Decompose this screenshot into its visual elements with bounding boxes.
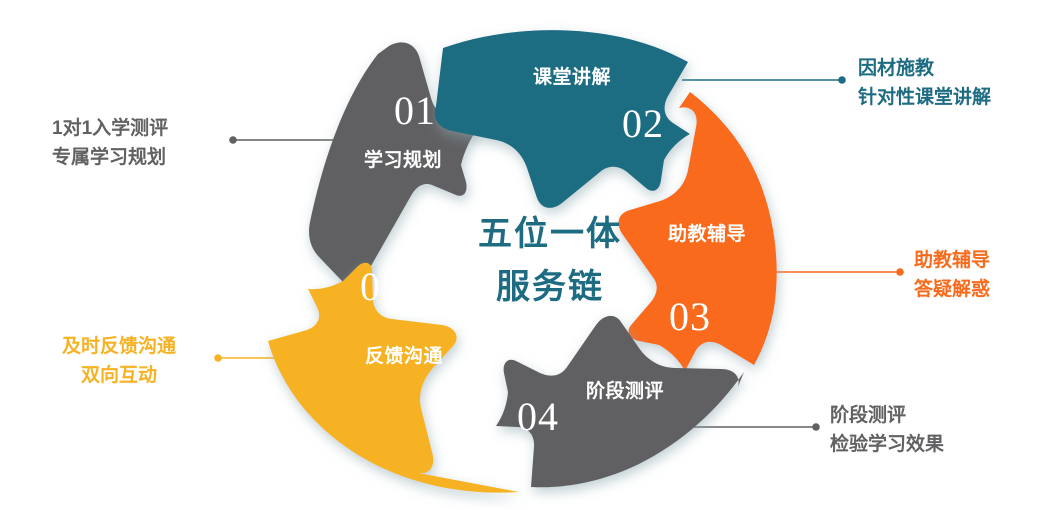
callout-04-line2: 检验学习效果 [830, 430, 944, 459]
callout-03-line1: 助教辅导 [914, 246, 990, 275]
segment-02-label: 课堂讲解 [533, 65, 611, 88]
callout-05-line2: 双向互动 [62, 361, 176, 390]
segment-02-number: 02 [622, 101, 664, 146]
segment-03-number: 03 [669, 294, 711, 339]
callout-03-teaching-assistant: 助教辅导 答疑解惑 [914, 246, 990, 305]
segment-05-label: 反馈沟通 [365, 344, 444, 367]
segment-04-label: 阶段测评 [586, 379, 664, 402]
callout-04-line1: 阶段测评 [830, 401, 944, 430]
segment-05-number: 05 [360, 264, 402, 309]
connector-line-02 [682, 76, 846, 84]
connector-line-01 [229, 136, 345, 144]
callout-02-classroom-teaching: 因材施教 针对性课堂讲解 [858, 54, 991, 113]
infographic-canvas: 01 学习规划 课堂讲解 02 助教辅导 03 04 阶段测评 05 反馈沟通 … [0, 0, 1056, 510]
callout-02-line2: 针对性课堂讲解 [858, 83, 991, 112]
callout-04-stage-assessment: 阶段测评 检验学习效果 [830, 401, 944, 460]
connector-line-03 [762, 268, 904, 276]
callout-05-feedback-communication: 及时反馈沟通 双向互动 [62, 332, 176, 391]
segment-03-label: 助教辅导 [668, 222, 746, 245]
callout-02-line1: 因材施教 [858, 54, 991, 83]
callout-05-line1: 及时反馈沟通 [62, 332, 176, 361]
callout-03-line2: 答疑解惑 [914, 275, 990, 304]
segment-01-label: 学习规划 [364, 148, 442, 171]
center-title-line1: 五位一体 [478, 215, 622, 253]
segment-04-number: 04 [517, 394, 559, 439]
segment-01-number: 01 [394, 88, 436, 133]
callout-01-line2: 专属学习规划 [52, 143, 168, 172]
callout-01-learning-plan: 1对1入学测评 专属学习规划 [52, 114, 168, 173]
connector-line-04 [694, 423, 820, 431]
callout-01-line1: 1对1入学测评 [52, 114, 168, 143]
center-title-line2: 服务链 [496, 268, 604, 306]
